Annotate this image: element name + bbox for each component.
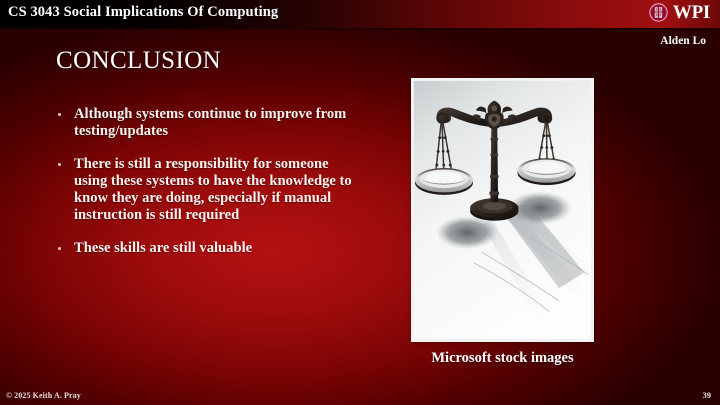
slide-header-bar: CS 3043 Social Implications Of Computing… <box>0 0 720 28</box>
wpi-logo: WPI <box>648 2 710 23</box>
bullet-text: Although systems continue to improve fro… <box>74 106 346 139</box>
wpi-seal-icon <box>648 2 669 23</box>
bullet-dot-icon <box>58 113 61 116</box>
presenter-name: Alden Lo <box>660 35 706 47</box>
bullet-text: There is still a responsibility for some… <box>74 156 352 223</box>
bullet-item: These skills are still valuable <box>56 240 356 257</box>
balance-scales-photo <box>411 78 594 342</box>
wpi-wordmark: WPI <box>673 3 710 22</box>
bullet-item: Although systems continue to improve fro… <box>56 106 356 140</box>
copyright-notice: © 2025 Keith A. Pray <box>6 391 81 400</box>
slide-number: 39 <box>703 390 712 400</box>
bullet-item: There is still a responsibility for some… <box>56 156 356 224</box>
bullet-dot-icon <box>58 163 61 166</box>
bullet-list: Although systems continue to improve fro… <box>56 106 356 256</box>
bullet-dot-icon <box>58 247 61 250</box>
course-title: CS 3043 Social Implications Of Computing <box>8 4 278 21</box>
slide-title: CONCLUSION <box>56 47 221 75</box>
presentation-slide: CS 3043 Social Implications Of Computing… <box>0 0 720 405</box>
photo-caption: Microsoft stock images <box>411 350 594 367</box>
bullet-text: These skills are still valuable <box>74 240 252 256</box>
